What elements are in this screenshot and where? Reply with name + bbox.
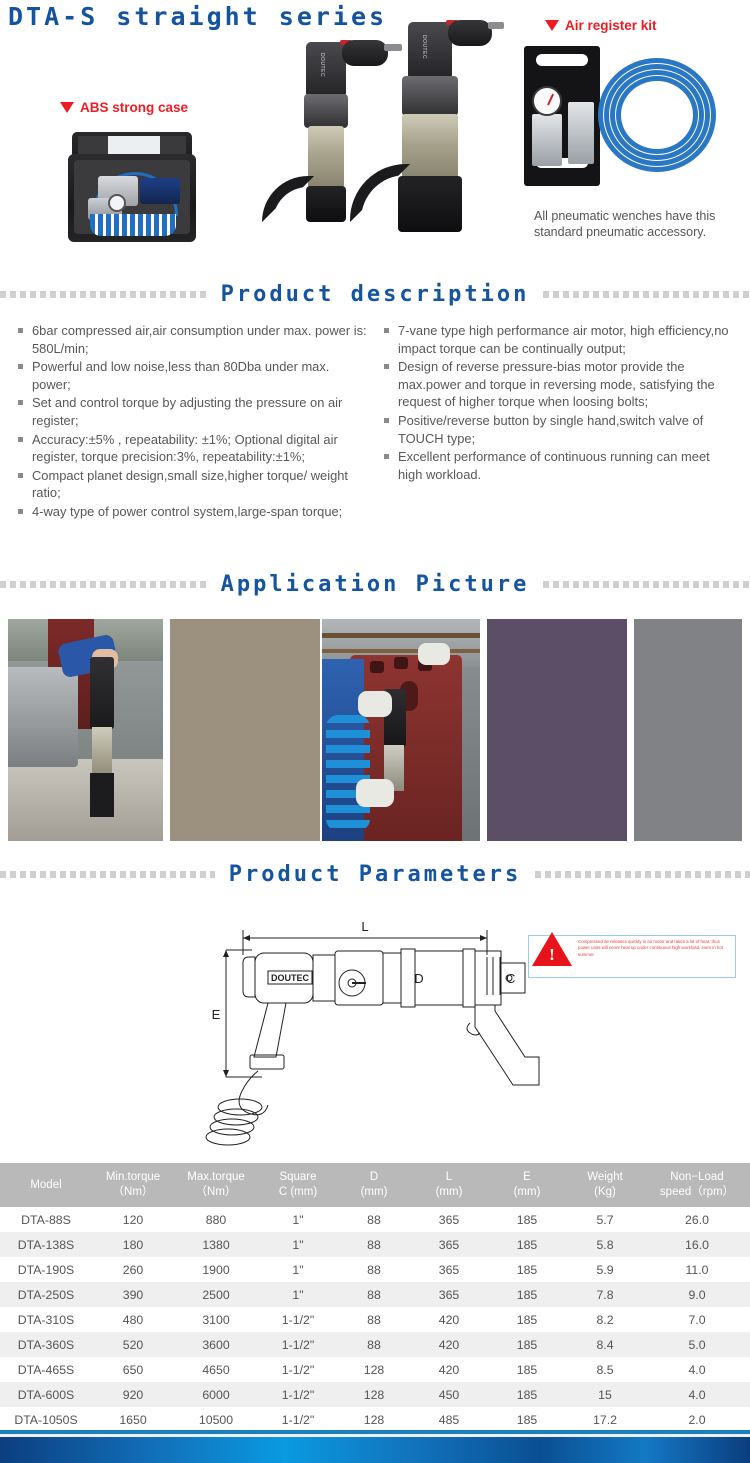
header-line1: Weight bbox=[568, 1170, 642, 1185]
column-header-min-torque: Min.torque （Nm） bbox=[92, 1163, 174, 1207]
section-title-description: Product description bbox=[221, 282, 530, 307]
column-header-no-load-speed: Non−Load speed（rpm） bbox=[644, 1163, 750, 1207]
column-header-max-torque: Max.torque （Nm） bbox=[174, 1163, 258, 1207]
cell-model: DTA-190S bbox=[0, 1257, 92, 1282]
list-item: Compact planet design,small size,higher … bbox=[16, 467, 368, 502]
wrench-motor bbox=[90, 657, 114, 729]
flange-base bbox=[8, 759, 163, 841]
table-row: DTA-88S1208801"883651855.726.0 bbox=[0, 1207, 750, 1232]
cell-value: 520 bbox=[92, 1332, 174, 1357]
cell-value: 185 bbox=[488, 1232, 566, 1257]
cell-value: 5.7 bbox=[566, 1207, 644, 1232]
cell-value: 485 bbox=[410, 1407, 488, 1432]
cell-value: 5.9 bbox=[566, 1257, 644, 1282]
column-header-l: L (mm) bbox=[410, 1163, 488, 1207]
cell-value: 365 bbox=[410, 1282, 488, 1307]
column-header-square: Square C (mm) bbox=[258, 1163, 338, 1207]
cell-model: DTA-250S bbox=[0, 1282, 92, 1307]
cell-value: 480 bbox=[92, 1307, 174, 1332]
cell-value: 1-1/2" bbox=[258, 1332, 338, 1357]
wrench-barrel bbox=[92, 727, 112, 775]
table-row: DTA-310S48031001-1/2"884201858.27.0 bbox=[0, 1307, 750, 1332]
header-line2: （Nm） bbox=[94, 1185, 172, 1200]
application-picture-strip bbox=[0, 619, 750, 841]
cell-value: 365 bbox=[410, 1207, 488, 1232]
header-line2: (Kg) bbox=[568, 1185, 642, 1200]
wrench-barrel bbox=[402, 114, 458, 178]
cell-value: 6000 bbox=[174, 1382, 258, 1407]
cell-value: 185 bbox=[488, 1407, 566, 1432]
description-list-left: 6bar compressed air,air consumption unde… bbox=[16, 322, 368, 521]
kit-pressure-gauge bbox=[532, 86, 562, 116]
cell-value: 88 bbox=[338, 1307, 410, 1332]
drawing-brand-label: DOUTEC bbox=[271, 973, 310, 983]
cell-value: 128 bbox=[338, 1407, 410, 1432]
header-line2: (mm) bbox=[340, 1185, 408, 1200]
hose-loop bbox=[616, 76, 698, 154]
dimension-label-e: E bbox=[212, 1007, 221, 1022]
cell-value: 1" bbox=[258, 1232, 338, 1257]
list-item: Excellent performance of continuous runn… bbox=[382, 448, 734, 483]
cell-value: 4650 bbox=[174, 1357, 258, 1382]
case-coiled-hose bbox=[90, 214, 176, 236]
abs-case-label-text: ABS strong case bbox=[80, 100, 188, 115]
wrench-motor bbox=[408, 22, 452, 80]
cell-value: 3600 bbox=[174, 1332, 258, 1357]
cell-value: 128 bbox=[338, 1382, 410, 1407]
cell-value: 3100 bbox=[174, 1307, 258, 1332]
cell-value: 365 bbox=[410, 1257, 488, 1282]
cell-value: 16.0 bbox=[644, 1232, 750, 1257]
table-row: DTA-360S52036001-1/2"884201858.45.0 bbox=[0, 1332, 750, 1357]
cell-value: 120 bbox=[92, 1207, 174, 1232]
cell-value: 1380 bbox=[174, 1232, 258, 1257]
list-item: 6bar compressed air,air consumption unde… bbox=[16, 322, 368, 357]
cell-value: 5.0 bbox=[644, 1332, 750, 1357]
cell-model: DTA-465S bbox=[0, 1357, 92, 1382]
table-row: DTA-250S39025001"883651857.89.0 bbox=[0, 1282, 750, 1307]
application-panel-4 bbox=[487, 619, 627, 841]
cell-value: 450 bbox=[410, 1382, 488, 1407]
case-tool bbox=[140, 178, 180, 204]
cell-value: 2500 bbox=[174, 1282, 258, 1307]
cell-value: 88 bbox=[338, 1257, 410, 1282]
list-item: Positive/reverse button by single hand,s… bbox=[382, 412, 734, 447]
table-row: DTA-600S92060001-1/2"128450185154.0 bbox=[0, 1382, 750, 1407]
cell-value: 17.2 bbox=[566, 1407, 644, 1432]
footer-band bbox=[0, 1437, 750, 1463]
wrench-gearbox bbox=[402, 76, 458, 116]
cell-value: 420 bbox=[410, 1357, 488, 1382]
cell-value: 5.8 bbox=[566, 1232, 644, 1257]
wrench-air-inlet bbox=[488, 22, 504, 29]
cell-value: 88 bbox=[338, 1332, 410, 1357]
cell-value: 180 bbox=[92, 1232, 174, 1257]
roof-beam bbox=[322, 649, 480, 653]
list-item: Accuracy:±5% , repeatability: ±1%; Optio… bbox=[16, 431, 368, 466]
cell-value: 185 bbox=[488, 1382, 566, 1407]
column-header-weight: Weight (Kg) bbox=[566, 1163, 644, 1207]
dot-rule-left bbox=[0, 581, 207, 588]
cell-value: 260 bbox=[92, 1257, 174, 1282]
cell-value: 1" bbox=[258, 1207, 338, 1232]
header-line2: (mm) bbox=[412, 1185, 486, 1200]
section-header-application: Application Picture bbox=[0, 572, 750, 597]
cell-value: 1" bbox=[258, 1282, 338, 1307]
air-register-kit-label-text: Air register kit bbox=[565, 18, 657, 33]
cell-value: 11.0 bbox=[644, 1257, 750, 1282]
cell-value: 88 bbox=[338, 1282, 410, 1307]
header-line1: Max.torque bbox=[176, 1170, 256, 1185]
kit-regulator-bowl bbox=[532, 114, 562, 166]
case-gauge bbox=[108, 194, 126, 212]
cell-model: DTA-1050S bbox=[0, 1407, 92, 1432]
cell-value: 2.0 bbox=[644, 1407, 750, 1432]
list-item: Set and control torque by adjusting the … bbox=[16, 394, 368, 429]
column-header-model: Model bbox=[0, 1163, 92, 1207]
header-line1: Min.torque bbox=[94, 1170, 172, 1185]
dot-rule-right bbox=[543, 581, 750, 588]
cell-value: 8.4 bbox=[566, 1332, 644, 1357]
kit-handle-slot bbox=[536, 54, 588, 66]
cell-value: 920 bbox=[92, 1382, 174, 1407]
cell-value: 4.0 bbox=[644, 1382, 750, 1407]
parameters-table: Model Min.torque （Nm） Max.torque （Nm） Sq… bbox=[0, 1163, 750, 1457]
header-line1: D bbox=[340, 1170, 408, 1185]
dot-rule-right bbox=[535, 871, 750, 878]
triangle-down-icon bbox=[545, 20, 559, 31]
wrench-motor bbox=[306, 42, 346, 98]
wrench-brand-logo: DOUTEC bbox=[319, 53, 325, 77]
dot-rule-left bbox=[0, 871, 215, 878]
wrench-reaction-arm bbox=[350, 164, 410, 222]
operator-glove bbox=[418, 643, 450, 665]
steel-drum bbox=[8, 667, 78, 767]
bolt bbox=[370, 661, 384, 673]
cell-model: DTA-138S bbox=[0, 1232, 92, 1257]
header-line2: （Nm） bbox=[176, 1185, 256, 1200]
description-columns: 6bar compressed air,air consumption unde… bbox=[0, 322, 750, 522]
cell-value: 185 bbox=[488, 1307, 566, 1332]
cell-value: 26.0 bbox=[644, 1207, 750, 1232]
abs-case-photo bbox=[62, 128, 202, 245]
table-row: DTA-190S26019001"883651855.911.0 bbox=[0, 1257, 750, 1282]
description-list-right: 7-vane type high performance air motor, … bbox=[382, 322, 734, 483]
cell-value: 1-1/2" bbox=[258, 1307, 338, 1332]
wrench-reaction-arm bbox=[262, 176, 314, 222]
product-photo-wrenches: DOUTEC DOUTEC bbox=[258, 14, 488, 254]
cell-value: 1" bbox=[258, 1257, 338, 1282]
header-line1: E bbox=[490, 1170, 564, 1185]
wrench-gearbox bbox=[304, 94, 348, 128]
cell-value: 10500 bbox=[174, 1407, 258, 1432]
bolt bbox=[394, 657, 408, 669]
air-register-kit-photo bbox=[520, 40, 735, 195]
application-panel-5 bbox=[634, 619, 742, 841]
product-datasheet-page: DTA-S straight series ABS strong case Ai… bbox=[0, 0, 750, 1463]
wrench-grip bbox=[342, 40, 388, 66]
cell-value: 8.5 bbox=[566, 1357, 644, 1382]
column-header-d: D (mm) bbox=[338, 1163, 410, 1207]
cell-value: 7.8 bbox=[566, 1282, 644, 1307]
header-line1: L bbox=[412, 1170, 486, 1185]
list-item: Powerful and low noise,less than 80Dba u… bbox=[16, 358, 368, 393]
cell-value: 185 bbox=[488, 1282, 566, 1307]
column-header-e: E (mm) bbox=[488, 1163, 566, 1207]
cell-value: 4.0 bbox=[644, 1357, 750, 1382]
cell-value: 1-1/2" bbox=[258, 1382, 338, 1407]
cell-value: 1-1/2" bbox=[258, 1407, 338, 1432]
cell-value: 650 bbox=[92, 1357, 174, 1382]
kit-coiled-hose bbox=[598, 58, 726, 182]
section-title-application: Application Picture bbox=[221, 572, 530, 597]
dimension-label-c: C bbox=[506, 971, 515, 986]
cell-value: 9.0 bbox=[644, 1282, 750, 1307]
section-header-description: Product description bbox=[0, 282, 750, 307]
application-panel-2 bbox=[170, 619, 320, 841]
wrench-grip bbox=[448, 20, 492, 46]
cell-model: DTA-360S bbox=[0, 1332, 92, 1357]
cell-value: 1-1/2" bbox=[258, 1357, 338, 1382]
dot-rule-right bbox=[543, 291, 750, 298]
cell-value: 420 bbox=[410, 1307, 488, 1332]
list-item: 4-way type of power control system,large… bbox=[16, 503, 368, 521]
table-row: DTA-1050S1650105001-1/2"12848518517.22.0 bbox=[0, 1407, 750, 1432]
cell-value: 15 bbox=[566, 1382, 644, 1407]
cell-value: 185 bbox=[488, 1207, 566, 1232]
cell-value: 1900 bbox=[174, 1257, 258, 1282]
abs-case-label: ABS strong case bbox=[60, 100, 188, 115]
kit-note: All pneumatic wenches have this standard… bbox=[534, 208, 734, 240]
cell-value: 365 bbox=[410, 1232, 488, 1257]
cell-value: 185 bbox=[488, 1357, 566, 1382]
operator-glove bbox=[356, 779, 394, 807]
cell-value: 7.0 bbox=[644, 1307, 750, 1332]
cell-value: 88 bbox=[338, 1232, 410, 1257]
table-row: DTA-465S65046501-1/2"1284201858.54.0 bbox=[0, 1357, 750, 1382]
cell-value: 420 bbox=[410, 1332, 488, 1357]
table-row: DTA-138S18013801"883651855.816.0 bbox=[0, 1232, 750, 1257]
cell-value: 185 bbox=[488, 1257, 566, 1282]
cell-value: 128 bbox=[338, 1357, 410, 1382]
coiled-air-hose bbox=[326, 715, 370, 831]
header-line1: Non−Load bbox=[646, 1170, 748, 1185]
header-line1: Model bbox=[2, 1178, 90, 1193]
header-line2: C (mm) bbox=[260, 1185, 336, 1200]
cell-value: 880 bbox=[174, 1207, 258, 1232]
list-item: 7-vane type high performance air motor, … bbox=[382, 322, 734, 357]
section-title-parameters: Product Parameters bbox=[229, 862, 521, 887]
description-column-right: 7-vane type high performance air motor, … bbox=[382, 322, 734, 522]
cell-model: DTA-88S bbox=[0, 1207, 92, 1232]
dimension-label-d: D bbox=[414, 971, 423, 986]
wrench-socket bbox=[90, 773, 114, 817]
triangle-down-icon bbox=[60, 102, 74, 113]
kit-lubricator-bowl bbox=[568, 102, 594, 164]
header-line2: (mm) bbox=[490, 1185, 564, 1200]
cell-value: 185 bbox=[488, 1332, 566, 1357]
list-item: Design of reverse pressure-bias motor pr… bbox=[382, 358, 734, 411]
cell-value: 1650 bbox=[92, 1407, 174, 1432]
operator-glove bbox=[358, 691, 392, 717]
cell-value: 390 bbox=[92, 1282, 174, 1307]
wrench-brand-logo: DOUTEC bbox=[421, 35, 427, 59]
roof-beam bbox=[322, 633, 480, 638]
dimension-label-l: L bbox=[361, 919, 368, 934]
table-header-row: Model Min.torque （Nm） Max.torque （Nm） Sq… bbox=[0, 1163, 750, 1207]
table-header: Model Min.torque （Nm） Max.torque （Nm） Sq… bbox=[0, 1163, 750, 1207]
cell-model: DTA-600S bbox=[0, 1382, 92, 1407]
wrench-air-inlet bbox=[384, 44, 402, 51]
application-photo-2 bbox=[322, 619, 480, 841]
header-line2: speed（rpm） bbox=[646, 1185, 748, 1200]
footer-accent-line bbox=[0, 1430, 750, 1434]
cell-model: DTA-310S bbox=[0, 1307, 92, 1332]
warning-text: Compressed air releases quickly in air m… bbox=[578, 939, 730, 958]
table-body: DTA-88S1208801"883651855.726.0DTA-138S18… bbox=[0, 1207, 750, 1457]
description-column-left: 6bar compressed air,air consumption unde… bbox=[16, 322, 368, 522]
cell-value: 88 bbox=[338, 1207, 410, 1232]
air-register-kit-label: Air register kit bbox=[545, 18, 657, 33]
section-header-parameters: Product Parameters bbox=[0, 862, 750, 887]
warning-exclamation-icon: ! bbox=[548, 946, 556, 963]
cell-value: 8.2 bbox=[566, 1307, 644, 1332]
application-photo-1 bbox=[8, 619, 163, 841]
header-line1: Square bbox=[260, 1170, 336, 1185]
dot-rule-left bbox=[0, 291, 207, 298]
